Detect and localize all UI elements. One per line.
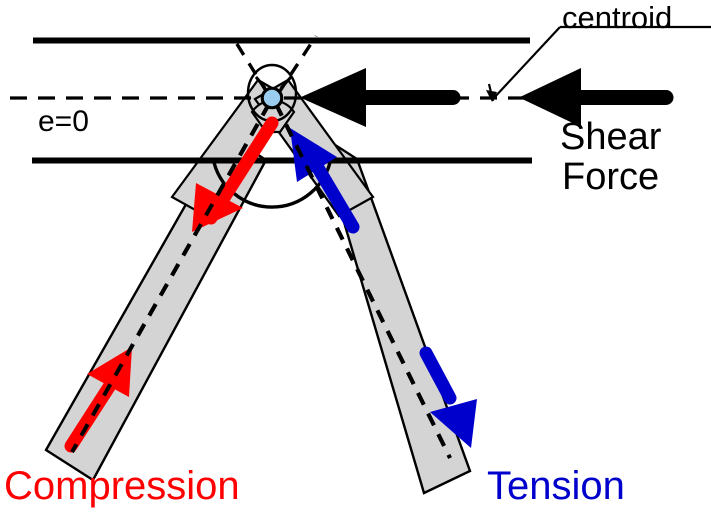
truss-joint-illustration: [0, 0, 711, 512]
centroid-label: centroid: [562, 2, 672, 34]
shear-arrow-inner-tail-cap: [446, 90, 461, 105]
shear-arrow-inner-shaft: [363, 90, 453, 105]
eccentricity-label: e=0: [38, 107, 89, 138]
shear-arrow-outer-tail-cap: [659, 90, 674, 105]
shear-force-label-line2: Force: [562, 158, 659, 197]
centroid-dot-top: [263, 89, 282, 108]
compression-label: Compression: [4, 466, 240, 507]
diagram-canvas: centroid e=0 Shear Force Compression Ten…: [0, 0, 711, 512]
shear-force-arrow-inner: [300, 68, 461, 127]
shear-arrow-outer-shaft: [578, 90, 666, 105]
shear-force-label-line1: Shear: [560, 118, 661, 157]
tension-label: Tension: [487, 466, 625, 507]
